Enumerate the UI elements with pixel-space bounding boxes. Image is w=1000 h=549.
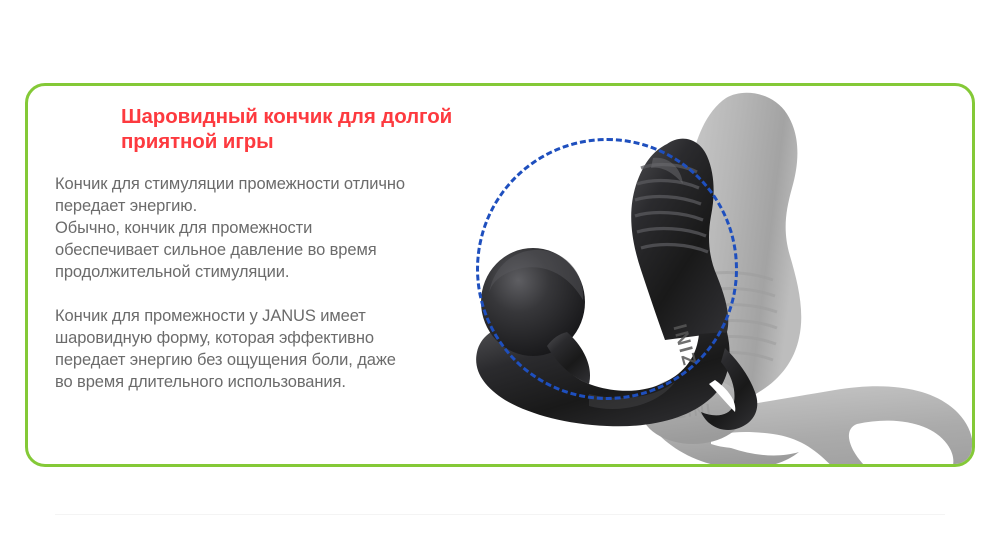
paragraph-2-line-1: Кончик для промежности у JANUS имеет: [55, 307, 366, 325]
page-title: Шаровидный кончик для долгой приятной иг…: [55, 104, 475, 154]
feature-paragraph-2: Кончик для промежности у JANUS имеет шар…: [55, 306, 475, 394]
paragraph-1-line-3: Обычно, кончик для промежности: [55, 219, 312, 237]
paragraph-1-line-1: Кончик для стимуляции промежности отличн…: [55, 175, 405, 193]
paragraph-2-line-2: шаровидную форму, которая эффективно: [55, 329, 374, 347]
feature-paragraph-1: Кончик для стимуляции промежности отличн…: [55, 174, 475, 284]
feature-card: ZINI: [25, 83, 975, 467]
paragraph-1-line-4: обеспечивает сильное давление во время: [55, 241, 377, 259]
text-column: Шаровидный кончик для долгой приятной иг…: [55, 104, 475, 393]
paragraph-1-line-2: передает энергию.: [55, 197, 197, 215]
artwork-clip: ZINI: [28, 86, 972, 464]
paragraph-2-line-3: передает энергию без ощущения боли, даже: [55, 351, 396, 369]
paragraph-2-line-4: во время длительного использования.: [55, 373, 346, 391]
paragraph-1-line-5: продолжительной стимуляции.: [55, 263, 289, 281]
product-illustration: ZINI: [443, 86, 972, 464]
bottom-divider: [55, 514, 945, 515]
